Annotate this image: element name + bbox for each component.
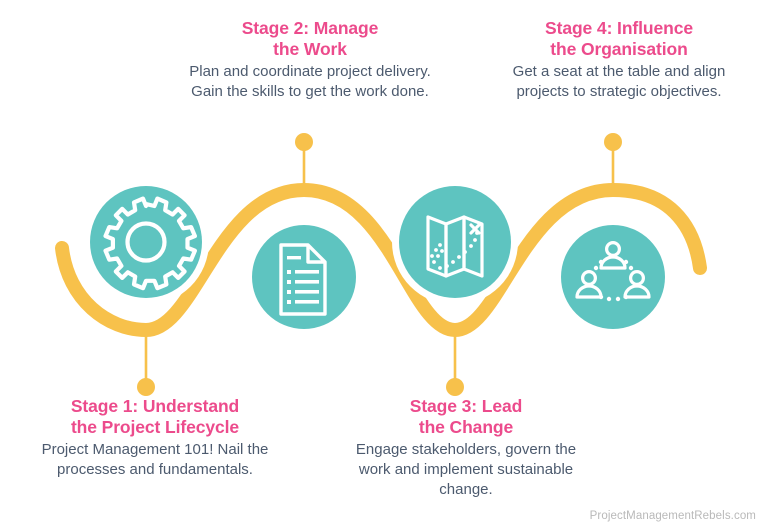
connector-stage-2 bbox=[295, 133, 313, 190]
stage-1-text-block: Stage 1: Understand the Project Lifecycl… bbox=[18, 396, 292, 480]
connector-dot-stage-2 bbox=[295, 133, 313, 151]
connector-dot-stage-4 bbox=[604, 133, 622, 151]
stage-1-title: Stage 1: Understand the Project Lifecycl… bbox=[18, 396, 292, 438]
watermark-credit: ProjectManagementRebels.com bbox=[590, 510, 756, 522]
stage-1-description: Project Management 101! Nail the process… bbox=[18, 440, 292, 480]
connector-stage-1 bbox=[137, 330, 155, 396]
stage-4-description: Get a seat at the table and align projec… bbox=[490, 62, 748, 102]
stage-4-title-line-2: the Organisation bbox=[550, 39, 687, 59]
stage-3-description: Engage stakeholders, govern the work and… bbox=[340, 440, 592, 500]
stage-4-circle bbox=[561, 225, 665, 329]
stage-1-title-line-1: Stage 1: Understand bbox=[71, 396, 239, 416]
stage-4-text-block: Stage 4: Influence the Organisation Get … bbox=[490, 18, 748, 102]
connector-stage-4 bbox=[604, 133, 622, 190]
infographic-canvas: Stage 1: Understand the Project Lifecycl… bbox=[0, 0, 768, 529]
stage-2-title-line-1: Stage 2: Manage bbox=[242, 18, 379, 38]
stage-2-text-block: Stage 2: Manage the Work Plan and coordi… bbox=[178, 18, 442, 102]
stage-3-node[interactable] bbox=[399, 186, 511, 298]
stage-4-node[interactable] bbox=[561, 225, 665, 329]
stage-3-circle bbox=[399, 186, 511, 298]
stage-2-description: Plan and coordinate project delivery. Ga… bbox=[178, 62, 442, 102]
connector-dot-stage-3 bbox=[446, 378, 464, 396]
stage-3-title-line-1: Stage 3: Lead bbox=[410, 396, 522, 416]
stage-4-title: Stage 4: Influence the Organisation bbox=[490, 18, 748, 60]
stage-2-node[interactable] bbox=[252, 225, 356, 329]
stage-2-title-line-2: the Work bbox=[273, 39, 347, 59]
connector-stage-3 bbox=[446, 330, 464, 396]
stage-4-title-line-1: Stage 4: Influence bbox=[545, 18, 693, 38]
stage-3-text-block: Stage 3: Lead the Change Engage stakehol… bbox=[340, 396, 592, 500]
stage-3-title: Stage 3: Lead the Change bbox=[340, 396, 592, 438]
stage-1-title-line-2: the Project Lifecycle bbox=[71, 417, 239, 437]
stage-3-title-line-2: the Change bbox=[419, 417, 513, 437]
stage-2-title: Stage 2: Manage the Work bbox=[178, 18, 442, 60]
connector-dot-stage-1 bbox=[137, 378, 155, 396]
stage-1-node[interactable] bbox=[90, 186, 202, 298]
